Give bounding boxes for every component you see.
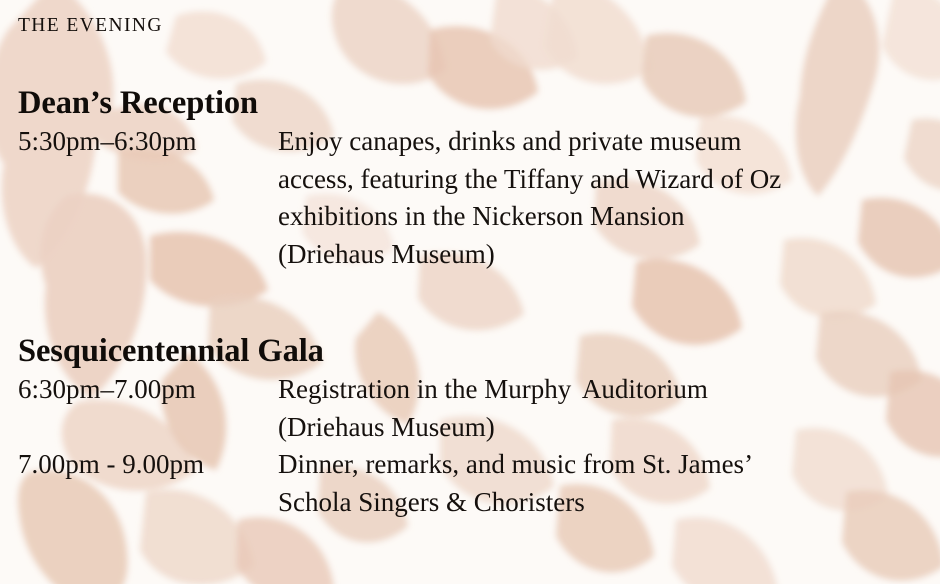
row-description: Enjoy canapes, drinks and private museum… bbox=[278, 123, 922, 273]
schedule-section-reception: Dean’s Reception 5:30pm–6:30pm Enjoy can… bbox=[18, 86, 922, 274]
section-title: Sesquicentennial Gala bbox=[18, 334, 922, 368]
description-line: Registration in the Murphy Auditorium bbox=[278, 371, 922, 409]
description-line: Dinner, remarks, and music from St. Jame… bbox=[278, 446, 922, 484]
schedule-row: 7.00pm - 9.00pm Dinner, remarks, and mus… bbox=[18, 446, 922, 521]
schedule-row: 6:30pm–7.00pm Registration in the Murphy… bbox=[18, 371, 922, 446]
description-line: (Driehaus Museum) bbox=[278, 409, 922, 447]
row-time: 6:30pm–7.00pm bbox=[18, 371, 278, 409]
page-eyebrow-label: THE EVENING bbox=[18, 16, 163, 36]
description-line: access, featuring the Tiffany and Wizard… bbox=[278, 161, 922, 199]
event-schedule-page: THE EVENING Dean’s Reception 5:30pm–6:30… bbox=[0, 0, 940, 584]
description-line: (Driehaus Museum) bbox=[278, 236, 922, 274]
row-time: 5:30pm–6:30pm bbox=[18, 123, 278, 161]
schedule-row: 5:30pm–6:30pm Enjoy canapes, drinks and … bbox=[18, 123, 922, 273]
schedule-rows: 5:30pm–6:30pm Enjoy canapes, drinks and … bbox=[18, 123, 922, 273]
schedule-section-gala: Sesquicentennial Gala 6:30pm–7.00pm Regi… bbox=[18, 334, 922, 522]
row-description: Registration in the Murphy Auditorium (D… bbox=[278, 371, 922, 446]
description-line: exhibitions in the Nickerson Mansion bbox=[278, 198, 922, 236]
description-line: Enjoy canapes, drinks and private museum bbox=[278, 123, 922, 161]
description-line: Schola Singers & Choristers bbox=[278, 484, 922, 522]
schedule-rows: 6:30pm–7.00pm Registration in the Murphy… bbox=[18, 371, 922, 521]
section-title: Dean’s Reception bbox=[18, 86, 922, 120]
row-time: 7.00pm - 9.00pm bbox=[18, 446, 278, 484]
row-description: Dinner, remarks, and music from St. Jame… bbox=[278, 446, 922, 521]
